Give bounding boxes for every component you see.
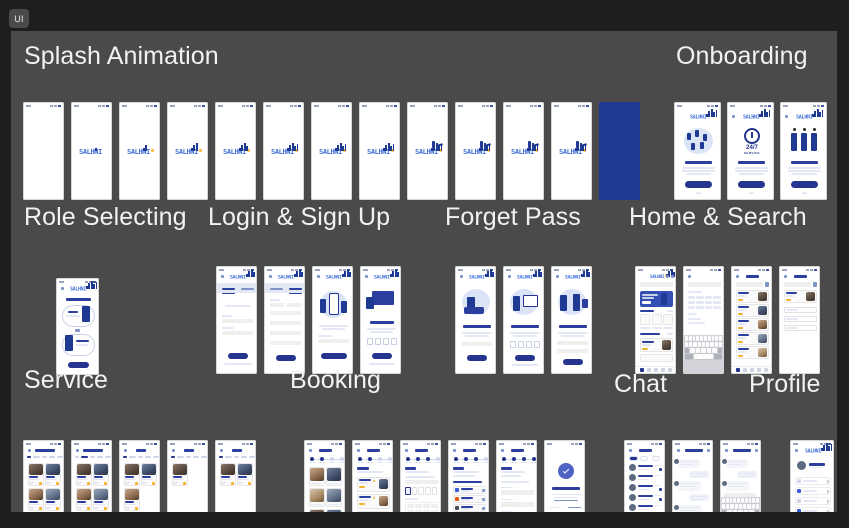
stepper-dot-0[interactable]	[310, 457, 314, 461]
day-chip-4[interactable]	[432, 487, 438, 495]
verify-button[interactable]	[515, 355, 535, 361]
onboarding-heading	[738, 161, 765, 164]
keyboard-key[interactable]	[701, 348, 705, 353]
field-email	[222, 319, 253, 323]
otp-digit-box-1[interactable]	[367, 338, 373, 345]
keyboard-key[interactable]	[685, 336, 688, 341]
status-bar-left	[499, 443, 504, 445]
keyboard-key[interactable]	[719, 342, 722, 347]
stepper-dot-1[interactable]	[368, 457, 372, 461]
forget-body-line	[561, 335, 585, 337]
service-title	[35, 449, 55, 452]
status-bar-right	[194, 443, 205, 445]
keyboard-key[interactable]	[752, 504, 755, 509]
keyboard-key[interactable]	[755, 510, 759, 512]
keyboard-key[interactable]	[689, 336, 692, 341]
booking-screen-booking-summary[interactable]	[448, 440, 489, 512]
onboarding-next-button[interactable]	[791, 181, 818, 188]
category-card-1[interactable]	[652, 314, 662, 325]
service-tab-strip[interactable]	[27, 456, 63, 458]
service-tab-2[interactable]	[90, 456, 96, 458]
booking-screen-booking-success[interactable]	[544, 440, 585, 512]
status-bar	[728, 103, 773, 108]
status-bar	[408, 103, 447, 108]
splash-frame-logo-8[interactable]: SALHNI	[407, 102, 448, 200]
keyboard-key-return[interactable]	[714, 354, 722, 359]
service-screen-saved-two[interactable]	[215, 440, 256, 512]
service-screen-services-category[interactable]	[23, 440, 64, 512]
illustration-figure	[811, 133, 817, 151]
keyboard-key[interactable]	[685, 348, 689, 353]
signal-icon	[146, 443, 149, 445]
service-tab-4[interactable]	[57, 456, 63, 458]
logo-tower	[543, 270, 544, 277]
stepper-dot-0[interactable]	[502, 457, 506, 461]
ui-mode-badge[interactable]: UI	[9, 9, 29, 28]
forget-send-button[interactable]	[467, 355, 487, 361]
keyboard-key[interactable]	[722, 504, 725, 509]
clock-icon	[458, 105, 463, 107]
payment-field-input	[501, 490, 534, 495]
day-chip-1[interactable]	[412, 487, 418, 495]
day-chip-0[interactable]	[405, 487, 411, 495]
logo-tower	[495, 270, 496, 277]
service-tab-3[interactable]	[145, 456, 151, 458]
splash-frame-logo-4[interactable]: SALHNI	[215, 102, 256, 200]
splash-frame-logo-5[interactable]: SALHNI	[263, 102, 304, 200]
keyboard-key[interactable]	[689, 342, 692, 347]
back-icon	[309, 449, 312, 452]
back-icon	[269, 275, 272, 278]
logo-person-icon	[528, 141, 531, 148]
keyboard-key[interactable]	[712, 336, 715, 341]
keyboard-key[interactable]	[752, 498, 755, 503]
keyboard-key[interactable]	[696, 348, 700, 353]
home-screen-results-list[interactable]	[731, 266, 772, 374]
booking-title	[511, 449, 524, 452]
keyboard-key[interactable]	[756, 498, 759, 503]
service-tab-3[interactable]	[97, 456, 103, 458]
field-label	[270, 299, 280, 301]
service-card-photo	[125, 464, 139, 475]
keyboard-row[interactable]	[685, 348, 722, 353]
home-screen-search-keyboard[interactable]	[683, 266, 724, 374]
splash-frame-logo-6[interactable]: SALHNI	[311, 102, 352, 200]
wifi-icon	[762, 269, 765, 271]
service-tab-4[interactable]	[153, 456, 159, 458]
chat-bubble-line	[680, 464, 695, 465]
chat-filter-tab-2[interactable]	[652, 456, 660, 461]
service-tab-4[interactable]	[249, 456, 255, 458]
wifi-icon	[575, 443, 578, 445]
service-tab-strip[interactable]	[171, 456, 207, 458]
stepper-dot-2[interactable]	[330, 457, 334, 461]
otp-digit-box-4[interactable]	[391, 338, 397, 345]
battery-icon	[394, 105, 397, 107]
chat-avatar	[722, 459, 727, 464]
splash-frame-logo-11[interactable]: SALHNI	[551, 102, 592, 200]
onboarding-skip-link	[802, 192, 807, 194]
service-tab-strip[interactable]	[219, 456, 255, 458]
signal-icon	[290, 105, 293, 107]
signal-icon	[806, 269, 809, 271]
back-icon	[61, 287, 64, 290]
summary-sub	[453, 471, 479, 473]
clock-icon	[506, 269, 511, 271]
illustration-figure	[703, 134, 707, 141]
battery-icon	[154, 105, 157, 107]
keyboard-key[interactable]	[700, 336, 703, 341]
logo-tower	[256, 270, 257, 277]
forget-screen-1[interactable]: SALHNI	[503, 266, 544, 374]
keyboard-row[interactable]	[685, 342, 722, 347]
booking-screen-booking-calendar[interactable]	[400, 440, 441, 512]
keyboard-row[interactable]	[722, 504, 759, 509]
keyboard-key[interactable]	[727, 510, 731, 512]
search-input	[640, 282, 673, 287]
onboarding-screen-2[interactable]: SALHNI24/7SERVICE	[727, 102, 774, 200]
brand-wordmark: SALHNI	[796, 115, 812, 120]
splash-frame-blank[interactable]	[23, 102, 64, 200]
wifi-icon	[534, 105, 537, 107]
nav-item-home[interactable]	[736, 368, 740, 372]
keyboard-key[interactable]	[685, 342, 688, 347]
forget-body-line	[513, 335, 537, 337]
login-screen-otp-entry[interactable]: SALHNI	[360, 266, 401, 374]
on-screen-keyboard[interactable]	[684, 335, 723, 373]
nav-item-booking[interactable]	[743, 368, 747, 372]
service-tab-1[interactable]	[33, 456, 40, 458]
day-chip-2[interactable]	[418, 487, 424, 495]
keyboard-key-space[interactable]	[694, 354, 714, 359]
result-name	[738, 292, 749, 294]
splash-frame-logo-9[interactable]: SALHNI	[455, 102, 496, 200]
keyboard-key[interactable]	[710, 342, 713, 347]
forget-body-line	[558, 332, 588, 334]
stepper-dot-2[interactable]	[474, 457, 478, 461]
keyboard-key[interactable]	[749, 510, 753, 512]
service-card-photo	[94, 464, 108, 475]
keyboard-key[interactable]	[706, 342, 709, 347]
status-bar-right	[475, 443, 486, 445]
service-tab-0[interactable]	[75, 456, 79, 458]
status-bar-left	[638, 269, 643, 271]
otp-digit-box-2[interactable]	[518, 341, 524, 348]
stepper-dot-2[interactable]	[522, 457, 526, 461]
battery-icon	[659, 443, 662, 445]
booking-service-photo	[327, 510, 341, 512]
back-icon	[317, 275, 320, 278]
keyboard-row[interactable]	[722, 510, 759, 512]
logo-tower	[393, 144, 395, 151]
result-role	[738, 337, 746, 339]
profile-screen[interactable]: SALHNI	[790, 440, 834, 512]
results-title	[794, 275, 807, 278]
status-bar-left	[122, 443, 127, 445]
filter-icon	[813, 282, 817, 287]
otp-digit-box-4[interactable]	[534, 341, 540, 348]
stepper-dot-2[interactable]	[426, 457, 430, 461]
result-rating	[738, 313, 743, 315]
stepper-dot-1[interactable]	[512, 457, 516, 461]
clock-icon	[26, 105, 31, 107]
service-tab-2[interactable]	[42, 456, 48, 458]
keyboard-key[interactable]	[743, 504, 746, 509]
home-screen-home-feed[interactable]: SALHNI	[635, 266, 676, 374]
back-icon	[460, 275, 463, 278]
service-tab-0[interactable]	[123, 456, 127, 458]
booking-service-photo	[310, 489, 324, 502]
forget-body-line	[462, 332, 492, 334]
nav-item-profile[interactable]	[668, 368, 672, 372]
stepper-dot-0[interactable]	[406, 457, 410, 461]
keyboard-key[interactable]	[696, 336, 699, 341]
onboarding-next-button[interactable]	[685, 181, 712, 188]
result-photo	[758, 348, 767, 357]
signal-icon	[662, 269, 665, 271]
stepper-dot-1[interactable]	[320, 457, 324, 461]
status-bar-right	[710, 269, 721, 271]
keyboard-key[interactable]	[737, 498, 740, 503]
signup-submit-button[interactable]	[276, 355, 296, 361]
otp-resend-link	[369, 363, 395, 365]
chat-bubble-line	[739, 476, 752, 477]
chat-screen-chat-thread-keyboard[interactable]	[720, 440, 761, 512]
otp-digit-box-3[interactable]	[383, 338, 389, 345]
logo-skyline	[287, 143, 299, 151]
booking-screen-booking-select-service[interactable]	[304, 440, 345, 512]
service-screen-services-category-filtered[interactable]	[71, 440, 112, 512]
logo-skyline	[95, 143, 107, 151]
keyboard-key[interactable]	[726, 504, 729, 509]
stepper-dot-3[interactable]	[484, 457, 488, 461]
splash-frame-logo-1[interactable]: SALHNI	[71, 102, 112, 200]
otp-verify-button[interactable]	[372, 353, 392, 359]
onboarding-body-line	[735, 170, 768, 172]
service-tab-3[interactable]	[241, 456, 247, 458]
status-bar-right	[242, 443, 253, 445]
splash-frame-logo-3[interactable]: SALHNI	[167, 102, 208, 200]
signal-icon	[578, 105, 581, 107]
otp-digit-box-2[interactable]	[375, 338, 381, 345]
keyboard-row[interactable]	[722, 498, 759, 503]
service-tab-2[interactable]	[234, 456, 240, 458]
stepper-dot-3[interactable]	[532, 457, 536, 461]
otp-digit-box-1[interactable]	[510, 341, 516, 348]
keyboard-key[interactable]	[730, 498, 733, 503]
forget-screen-2[interactable]: SALHNI	[551, 266, 592, 374]
banner-cta-button[interactable]	[642, 301, 651, 304]
brand-wordmark: SALHNI	[650, 275, 664, 279]
status-bar-right	[707, 105, 718, 107]
keyboard-key[interactable]	[744, 510, 748, 512]
keyboard-key[interactable]	[698, 342, 701, 347]
booking-title	[415, 449, 428, 452]
category-card-0[interactable]	[640, 314, 650, 325]
keyboard-key[interactable]	[712, 348, 716, 353]
stepper-dot-1[interactable]	[464, 457, 468, 461]
service-screen-saved-full[interactable]	[119, 440, 160, 512]
login-submit-button[interactable]	[228, 353, 248, 359]
status-bar-right	[98, 443, 109, 445]
service-tab-2[interactable]	[138, 456, 144, 458]
chat-filter-tab-0[interactable]	[629, 456, 638, 461]
service-tab-1[interactable]	[129, 456, 136, 458]
login-screen-login-form[interactable]: SALHNI	[216, 266, 257, 374]
keyboard-key[interactable]	[707, 348, 711, 353]
login-screen-signup-form[interactable]: SALHNI	[264, 266, 305, 374]
clock-icon	[403, 443, 408, 445]
home-screen-results-filter[interactable]	[779, 266, 820, 374]
keyboard-key[interactable]	[704, 336, 707, 341]
keyboard-row[interactable]	[685, 336, 722, 341]
on-screen-keyboard[interactable]	[721, 497, 760, 512]
keyboard-key[interactable]	[747, 504, 750, 509]
stepper-dot-3[interactable]	[340, 457, 344, 461]
service-tab-strip[interactable]	[75, 456, 111, 458]
chat-screen-messages-list[interactable]	[624, 440, 665, 512]
stepper-dot-2[interactable]	[378, 457, 382, 461]
keyboard-key[interactable]	[749, 498, 752, 503]
wifi-icon	[246, 443, 249, 445]
keyboard-key-numbers[interactable]	[685, 354, 693, 359]
service-card-price	[77, 482, 82, 484]
stepper-line	[503, 459, 533, 460]
booking-service-label	[328, 483, 339, 485]
booking-provider-row[interactable]	[357, 511, 390, 512]
keyboard-key[interactable]	[756, 504, 759, 509]
keyboard-key[interactable]	[726, 498, 729, 503]
service-card-price	[125, 482, 130, 484]
service-tab-1[interactable]	[177, 456, 184, 458]
keyboard-key[interactable]	[715, 336, 718, 341]
keyboard-key[interactable]	[722, 498, 725, 503]
keyboard-key[interactable]	[722, 510, 726, 512]
logo-tower	[345, 144, 347, 151]
keyboard-key[interactable]	[718, 348, 722, 353]
status-bar-left	[547, 443, 552, 445]
keyboard-key[interactable]	[708, 336, 711, 341]
role-option-provider-sub	[76, 344, 88, 346]
summary-item-label	[461, 497, 473, 499]
service-tab-4[interactable]	[201, 456, 207, 458]
result-photo	[758, 334, 767, 343]
service-tab-1[interactable]	[225, 456, 232, 458]
service-tab-2[interactable]	[186, 456, 192, 458]
onboarding-screen-3[interactable]: SALHNI	[780, 102, 827, 200]
category-card-2[interactable]	[663, 314, 673, 325]
service-screen-saved-single[interactable]	[167, 440, 208, 512]
suggestion-chip	[705, 301, 712, 304]
service-tab-0[interactable]	[27, 456, 31, 458]
keyboard-key[interactable]	[730, 504, 733, 509]
chat-unread-badge	[659, 468, 662, 471]
onboarding-screen-1[interactable]: SALHNI	[674, 102, 721, 200]
keyboard-key[interactable]	[693, 336, 696, 341]
keyboard-key[interactable]	[693, 342, 696, 347]
keyboard-key[interactable]	[741, 498, 744, 503]
signal-icon	[386, 105, 389, 107]
keyboard-key[interactable]	[733, 510, 737, 512]
stepper-dot-3[interactable]	[436, 457, 440, 461]
keyboard-key[interactable]	[719, 336, 722, 341]
logo-skyline	[581, 269, 592, 277]
status-bar-left	[122, 105, 127, 107]
save-password-button[interactable]	[563, 359, 583, 365]
keyboard-row[interactable]	[685, 354, 722, 359]
service-tab-4[interactable]	[105, 456, 111, 458]
send-code-button[interactable]	[321, 353, 347, 359]
keyboard-key[interactable]	[733, 498, 736, 503]
forget-screen-0[interactable]: SALHNI	[455, 266, 496, 374]
keyboard-key[interactable]	[690, 348, 694, 353]
provider-rating	[642, 348, 648, 350]
service-tab-3[interactable]	[193, 456, 199, 458]
provider-photo	[379, 479, 388, 489]
chat-filter-tab-1[interactable]	[640, 456, 648, 461]
field-phone	[318, 339, 349, 343]
battery-icon	[707, 443, 710, 445]
service-card-rating	[87, 507, 90, 510]
booking-screen-booking-provider[interactable]	[352, 440, 393, 512]
service-card-name	[173, 476, 182, 478]
status-bar-right	[242, 105, 253, 107]
screenshot-root: UI Splash Animation Onboarding SALHNISAL…	[0, 0, 849, 528]
keyboard-key[interactable]	[735, 504, 738, 509]
keyboard-key[interactable]	[739, 504, 742, 509]
clock-icon	[554, 105, 559, 107]
clock-icon	[307, 443, 312, 445]
service-tab-0[interactable]	[171, 456, 175, 458]
service-tab-0[interactable]	[219, 456, 223, 458]
otp-digit-box-3[interactable]	[526, 341, 532, 348]
provider-card[interactable]	[640, 354, 673, 362]
chat-screen-chat-thread[interactable]	[672, 440, 713, 512]
booking-screen-booking-payment[interactable]	[496, 440, 537, 512]
forget-body-line	[465, 335, 489, 337]
stepper-dot-0[interactable]	[358, 457, 362, 461]
back-icon	[677, 449, 680, 452]
service-tab-strip[interactable]	[123, 456, 159, 458]
keyboard-key[interactable]	[715, 342, 718, 347]
signal-icon	[523, 443, 526, 445]
keyboard-key[interactable]	[745, 498, 748, 503]
logo-tower	[822, 110, 824, 117]
role-selecting-screen[interactable]: SALHNI	[56, 278, 99, 375]
result-rating	[738, 355, 743, 357]
splash-frame-logo-7[interactable]: SALHNI	[359, 102, 400, 200]
onboarding-next-button[interactable]	[738, 181, 765, 188]
keyboard-key[interactable]	[738, 510, 742, 512]
splash-frame-logo-10[interactable]: SALHNI	[503, 102, 544, 200]
stepper-dot-1[interactable]	[416, 457, 420, 461]
service-tab-1[interactable]	[81, 456, 88, 458]
stepper-dot-3[interactable]	[388, 457, 392, 461]
login-screen-phone-verify[interactable]: SALHNI	[312, 266, 353, 374]
battery-icon	[814, 269, 817, 271]
clock-icon	[675, 443, 680, 445]
splash-frame-solid-blue[interactable]	[599, 102, 640, 200]
section-title-onboarding: Onboarding	[676, 42, 808, 71]
wifi-icon	[655, 443, 658, 445]
chat-thread-time	[655, 505, 661, 506]
stepper-dot-0[interactable]	[454, 457, 458, 461]
suggestion-chip	[713, 301, 720, 304]
service-tab-3[interactable]	[49, 456, 55, 458]
keyboard-key[interactable]	[702, 342, 705, 347]
splash-frame-logo-2[interactable]: SALHNI	[119, 102, 160, 200]
day-chip-3[interactable]	[425, 487, 431, 495]
